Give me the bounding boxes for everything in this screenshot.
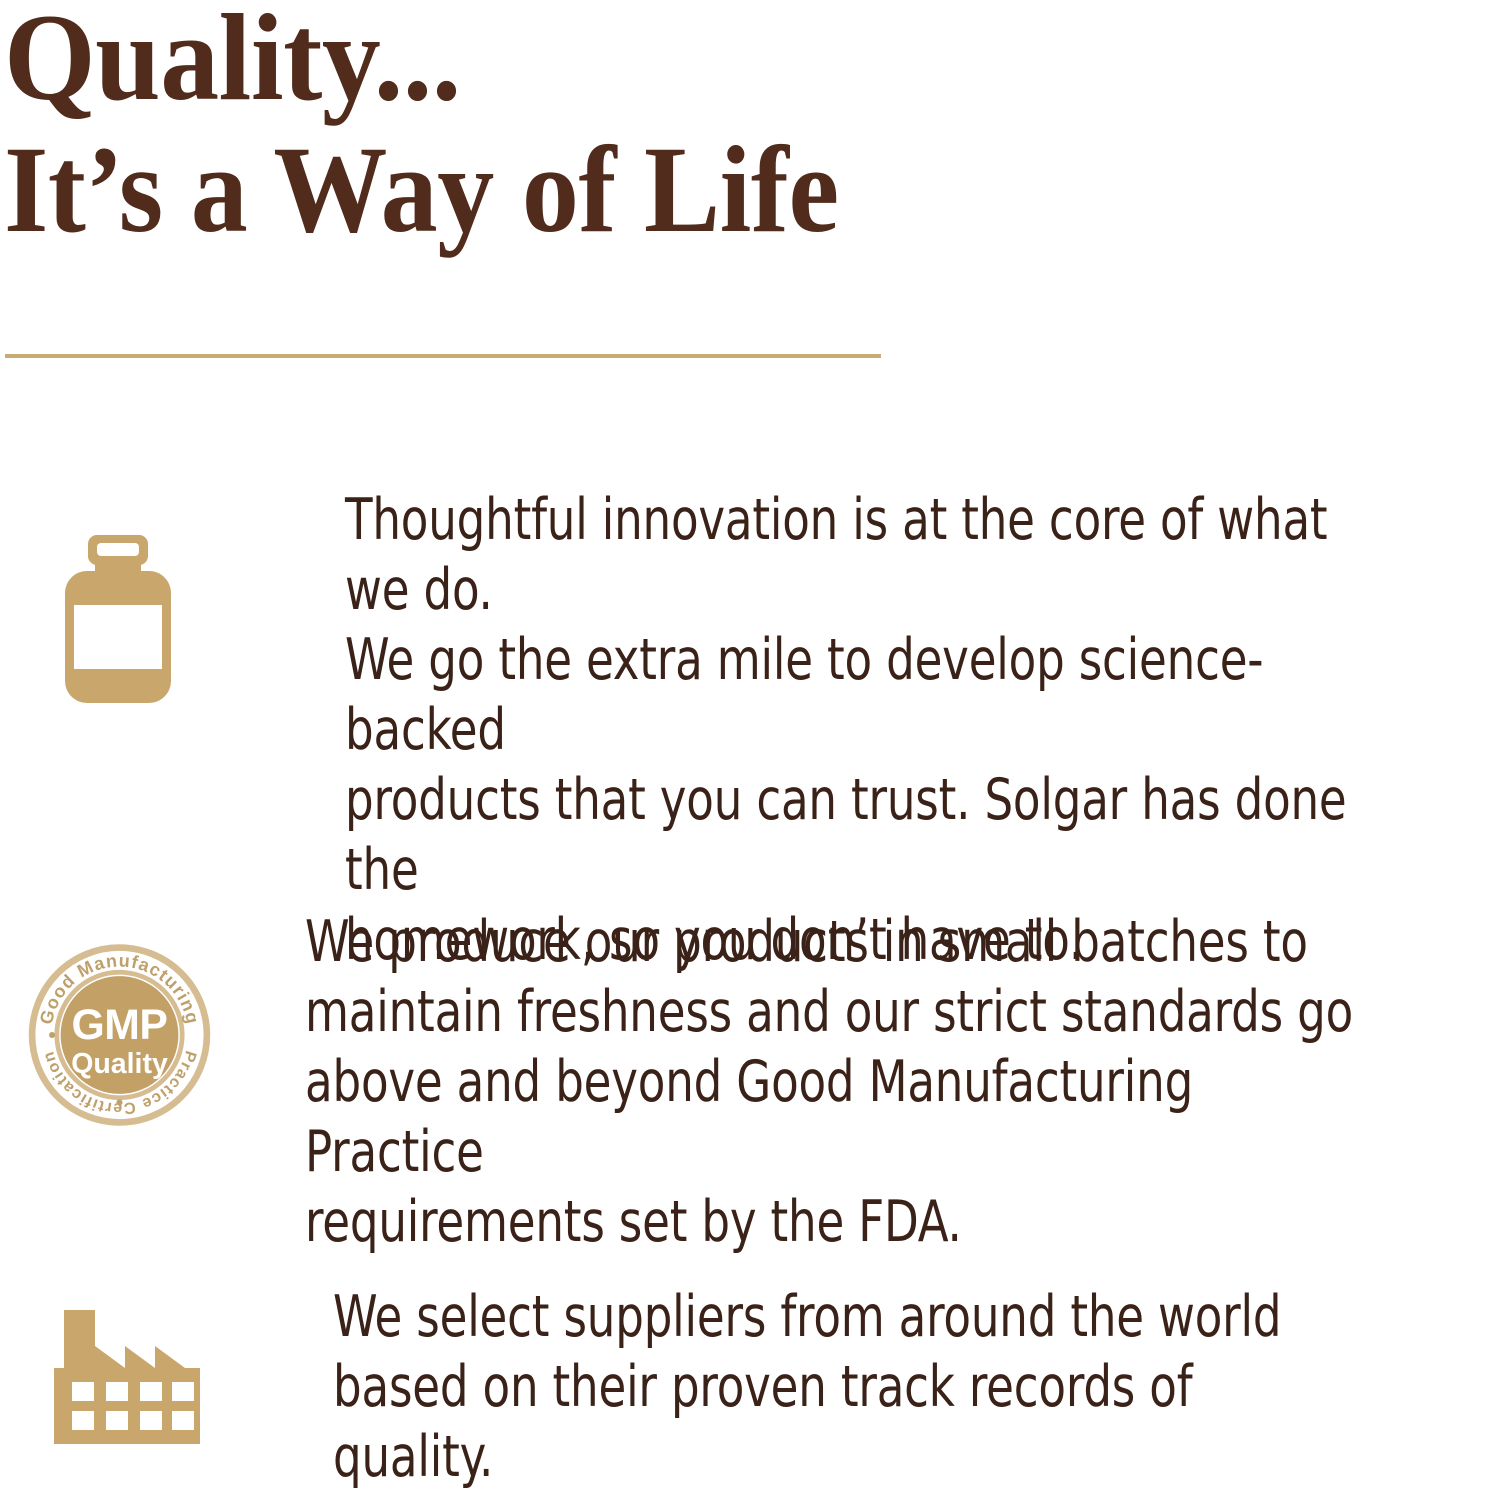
page-title-line-1: Quality... <box>4 0 1144 122</box>
svg-text:Quality: Quality <box>71 1048 168 1080</box>
list-item: We select suppliers from around the worl… <box>0 1240 1500 1500</box>
list-item: Good Manufacturing Practice Certificatio… <box>0 860 1500 1240</box>
feature-icon-slot <box>0 1240 333 1455</box>
gmp-quality-seal-icon: Good Manufacturing Practice Certificatio… <box>22 940 217 1130</box>
feature-list: Thoughtful innovation is at the core of … <box>0 440 1500 1500</box>
feature-text: We select suppliers from around the worl… <box>333 1240 1360 1492</box>
page-title: Quality... It’s a Way of Life <box>4 0 1204 252</box>
quality-way-of-life-panel: Quality... It’s a Way of Life T <box>0 0 1500 1465</box>
feature-icon-slot: Good Manufacturing Practice Certificatio… <box>0 860 305 1130</box>
divider <box>5 354 881 358</box>
feature-icon-slot <box>0 440 345 705</box>
svg-text:GMP: GMP <box>72 1001 168 1049</box>
page-title-line-2: It’s a Way of Life <box>4 128 1108 252</box>
supplement-bottle-icon <box>62 535 174 705</box>
factory-icon <box>50 1310 210 1455</box>
list-item: Thoughtful innovation is at the core of … <box>0 440 1500 860</box>
feature-text: We produce our products in small batches… <box>305 860 1357 1257</box>
